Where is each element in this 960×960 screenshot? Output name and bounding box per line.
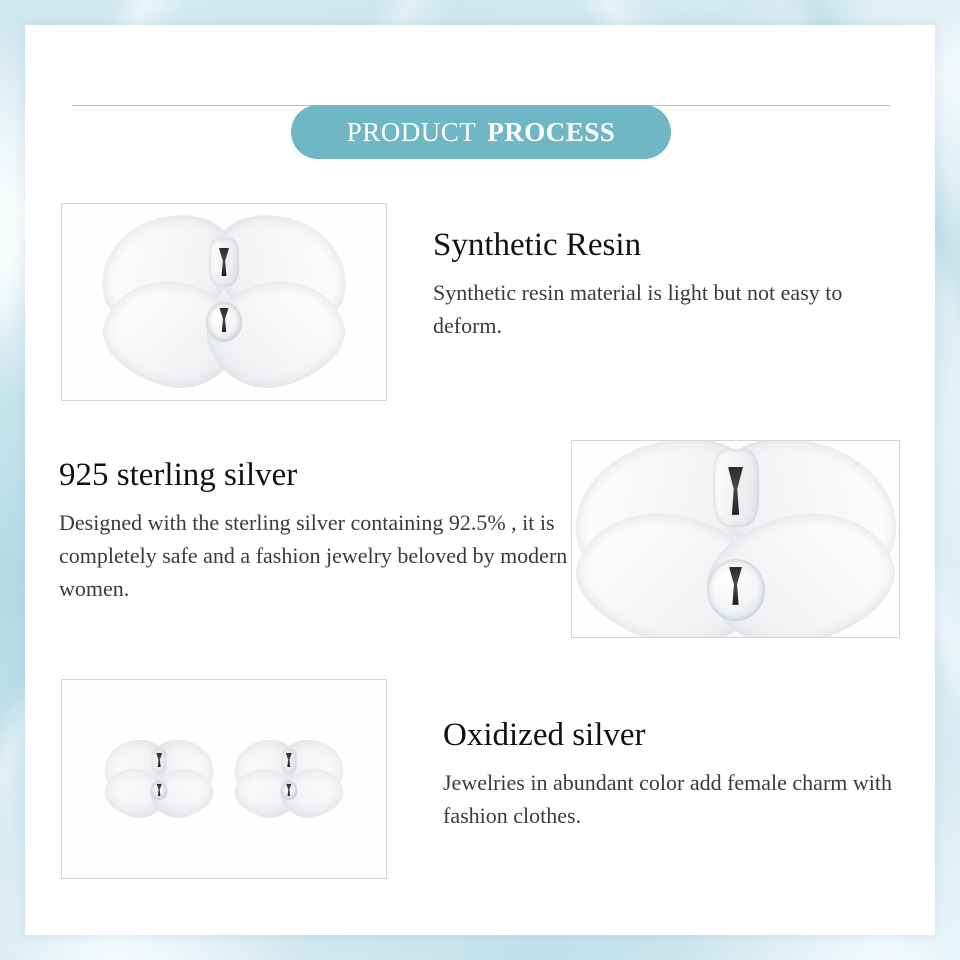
resin-bow-illustration (99, 218, 349, 386)
photo-scene (62, 680, 386, 878)
oxidized-bow-illustration-right (233, 741, 345, 817)
banner-rule-right (645, 105, 890, 106)
product-photo-sterling-silver (571, 440, 900, 638)
banner: PRODUCT PROCESS (25, 78, 935, 134)
decorative-marble-background: PRODUCT PROCESS Synth (0, 0, 960, 960)
banner-title-word-2: PROCESS (487, 119, 615, 146)
section-sterling-silver-text: 925 sterling silver Designed with the st… (59, 458, 579, 605)
oxidized-bow-illustration-left (103, 741, 215, 817)
photo-scene (62, 204, 386, 400)
section-3-heading: Oxidized silver (443, 718, 913, 753)
section-1-heading: Synthetic Resin (433, 228, 853, 263)
product-info-card: PRODUCT PROCESS Synth (25, 25, 935, 935)
banner-pill: PRODUCT PROCESS (291, 105, 671, 159)
section-2-heading: 925 sterling silver (59, 458, 579, 493)
section-1-body: Synthetic resin material is light but no… (433, 276, 853, 342)
banner-title-word-1: PRODUCT (347, 119, 477, 146)
product-photo-synthetic-resin (61, 203, 387, 401)
section-synthetic-resin-text: Synthetic Resin Synthetic resin material… (433, 228, 853, 342)
section-3-body: Jewelries in abundant color add female c… (443, 766, 913, 832)
section-oxidized-silver-text: Oxidized silver Jewelries in abundant co… (443, 718, 913, 832)
product-photo-oxidized-silver (61, 679, 387, 879)
photo-scene (572, 441, 899, 637)
silver-bow-illustration (571, 443, 900, 638)
section-2-body: Designed with the sterling silver contai… (59, 506, 579, 605)
banner-rule-left (72, 105, 314, 106)
